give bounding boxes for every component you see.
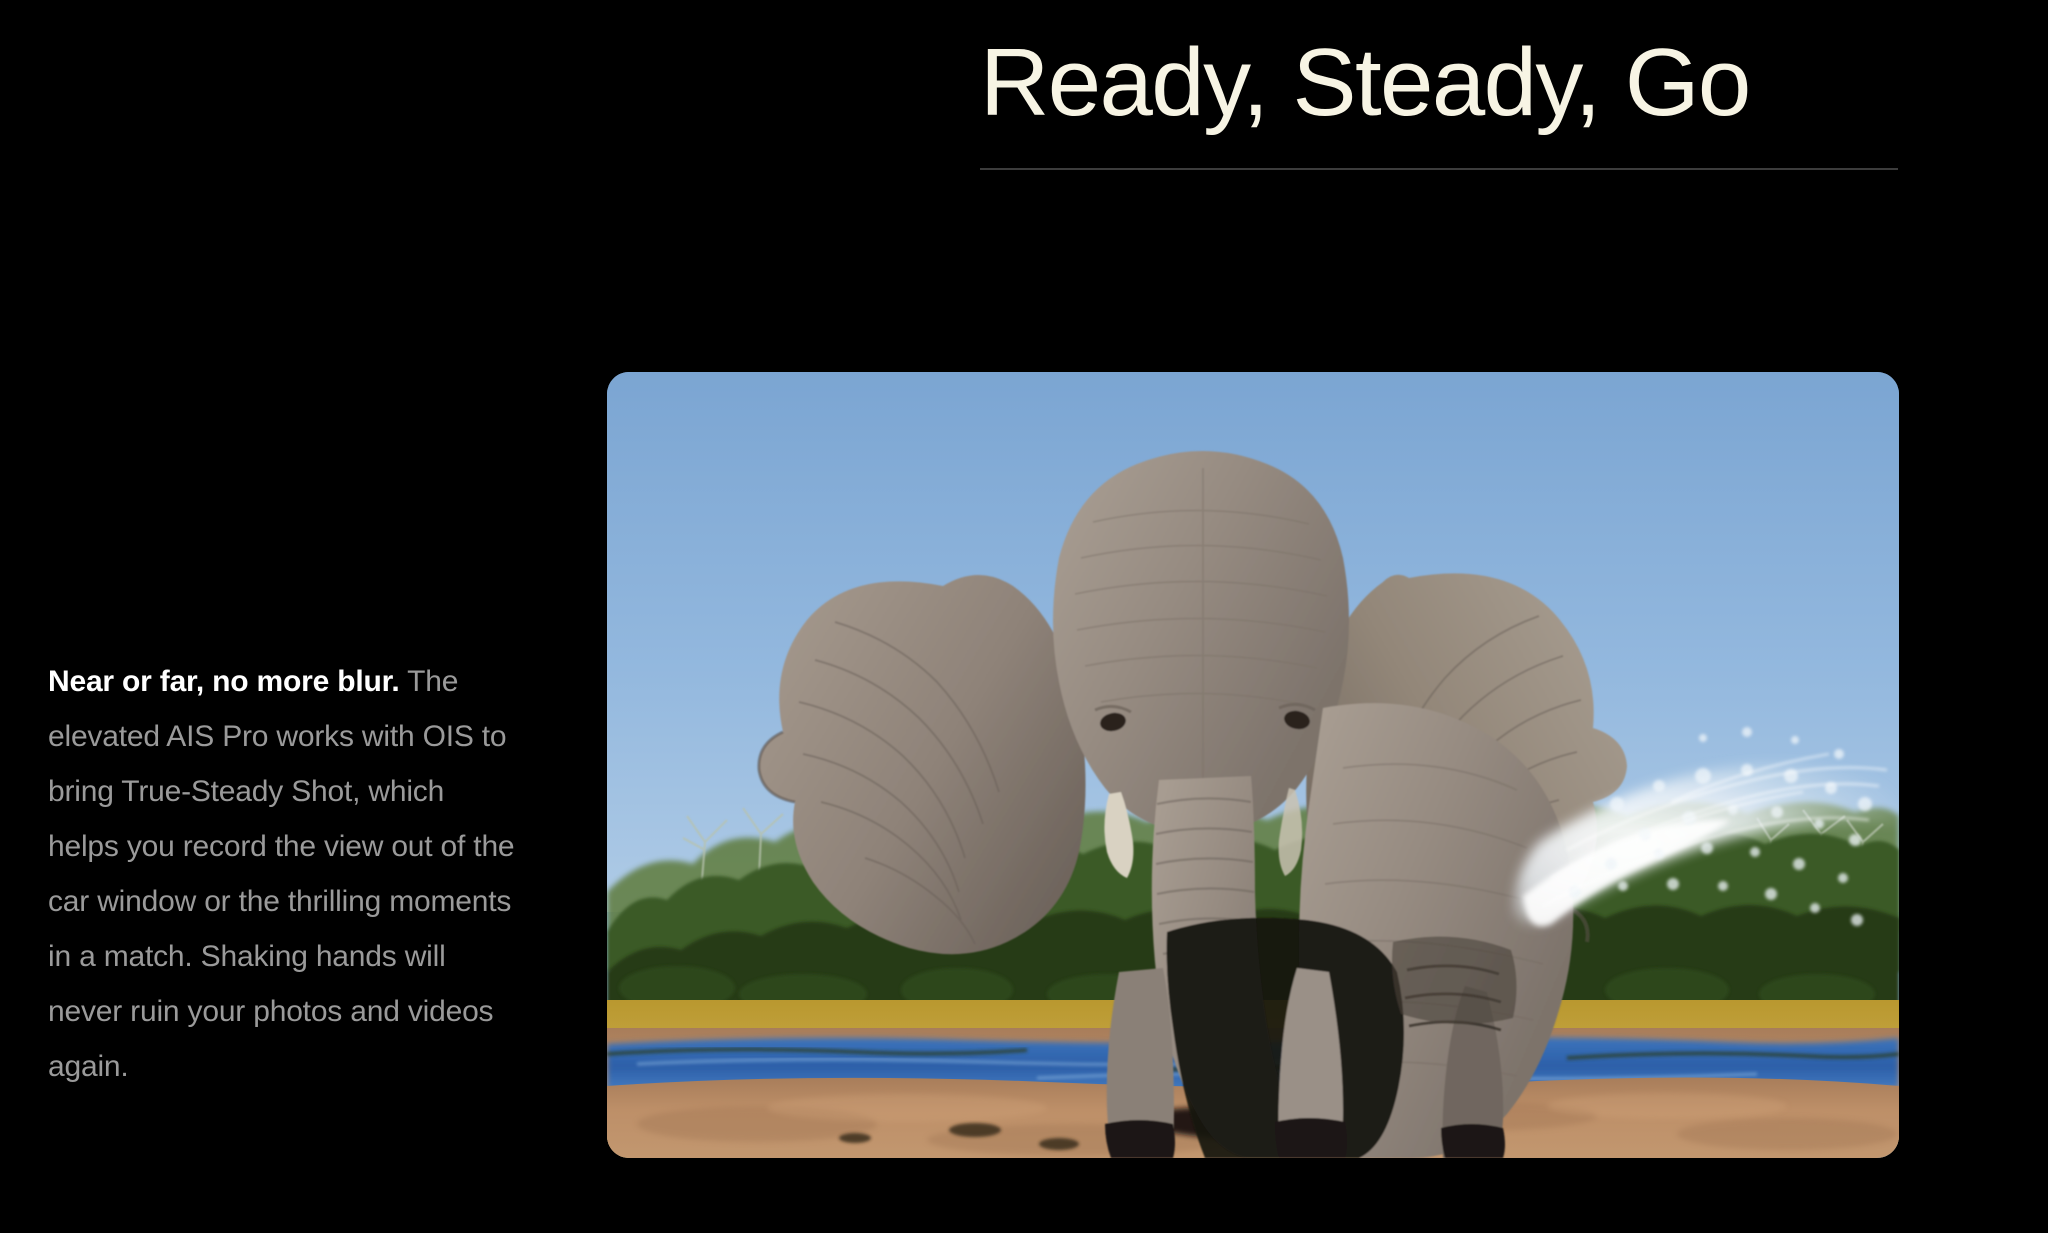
elephant-scene-illustration [607, 372, 1899, 1158]
hind-shadow-patch [1392, 937, 1517, 1025]
headline-divider [980, 168, 1898, 170]
elephant-head [1053, 451, 1349, 834]
body-lead-sentence: Near or far, no more blur. [48, 665, 400, 698]
headline-block: Ready, Steady, Go [980, 26, 1900, 170]
elephant-foot-front-right [1275, 1118, 1347, 1158]
body-paragraph: Near or far, no more blur. The elevated … [48, 654, 520, 1094]
body-copy-block: Near or far, no more blur. The elevated … [48, 654, 520, 1094]
elephant-foot-hind-right [1441, 1124, 1505, 1158]
elephant-foot-front-left [1105, 1120, 1175, 1158]
elephant-photo [607, 372, 1899, 1158]
body-rest-text: The elevated AIS Pro works with OIS to b… [48, 665, 514, 1083]
page-title: Ready, Steady, Go [980, 26, 1900, 139]
